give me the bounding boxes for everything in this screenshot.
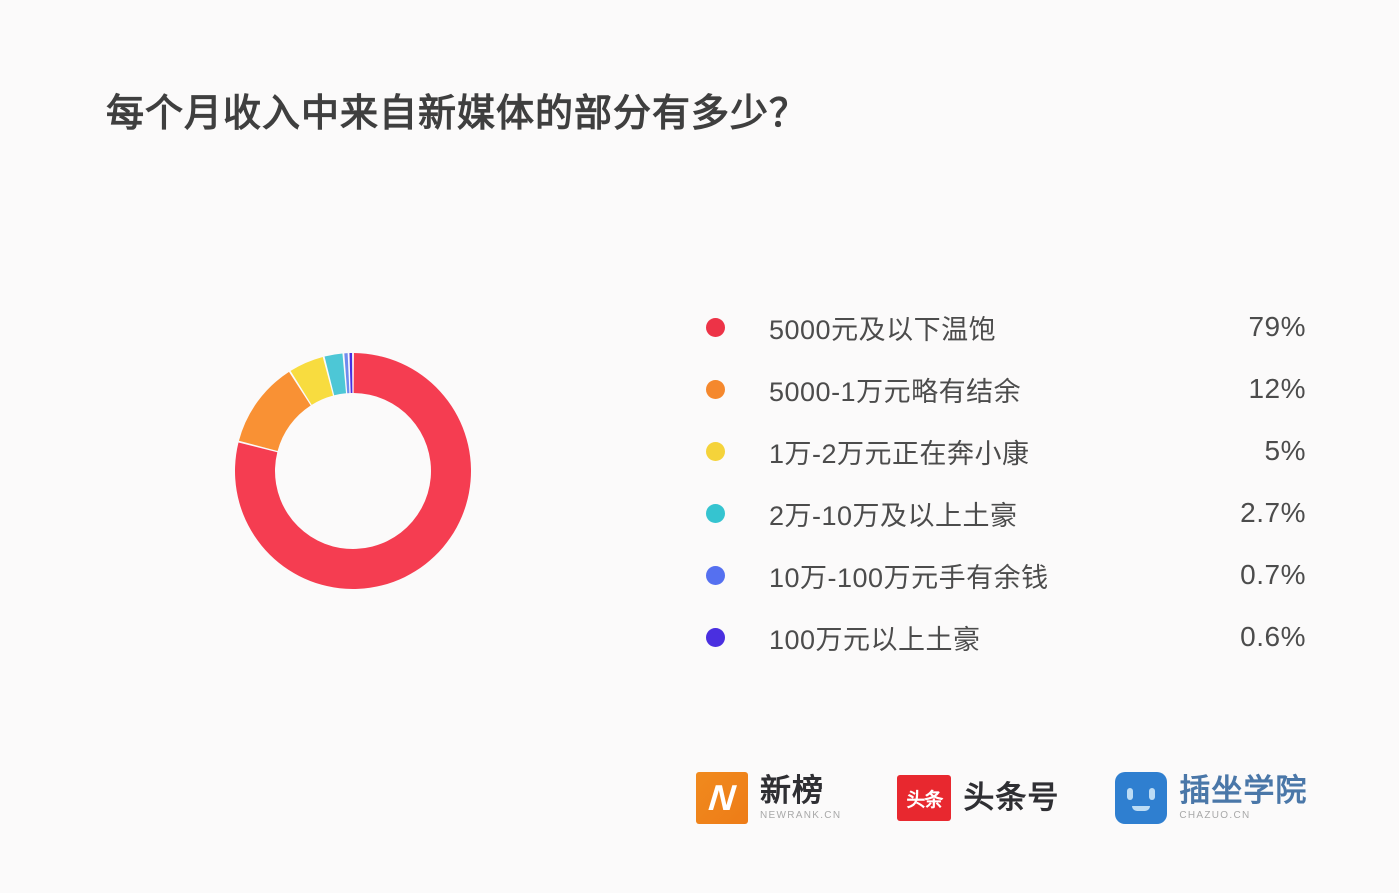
logo-newrank-name: 新榜 — [760, 775, 841, 808]
legend-color-swatch — [706, 442, 725, 461]
logo-chazuo-name: 插坐学院 — [1179, 775, 1307, 808]
legend-item[interactable]: 1万-2万元正在奔小康 5% — [706, 420, 1306, 482]
legend-color-swatch — [706, 504, 725, 523]
newrank-glyph: N — [707, 780, 737, 816]
legend-item[interactable]: 5000-1万元略有结余 12% — [706, 358, 1306, 420]
donut-slice[interactable] — [349, 353, 352, 393]
legend-item-label: 2万-10万及以上土豪 — [769, 494, 1186, 533]
logo-toutiaohao-text: 头条号 — [963, 782, 1059, 815]
logo-chazuo: 插坐学院 CHAZUO.CN — [1115, 772, 1307, 824]
chazuo-mouth-icon — [1132, 806, 1150, 811]
legend-color-swatch — [706, 318, 725, 337]
donut-chart-svg — [118, 236, 588, 706]
logo-chazuo-sub: CHAZUO.CN — [1179, 810, 1307, 821]
footer-logo-bar: N 新榜 NEWRANK.CN 头条 头条号 插坐学院 CHAZUO.CN — [696, 772, 1307, 824]
legend-item-label: 10万-100万元手有余钱 — [769, 556, 1186, 595]
legend-item-label: 5000元及以下温饱 — [769, 308, 1186, 347]
toutiao-mark-icon: 头条 — [897, 775, 951, 821]
chazuo-eye-right-icon — [1149, 788, 1155, 800]
legend-item-value: 2.7% — [1186, 497, 1306, 529]
legend-item[interactable]: 2万-10万及以上土豪 2.7% — [706, 482, 1306, 544]
logo-newrank-sub: NEWRANK.CN — [760, 810, 841, 821]
legend-color-swatch — [706, 628, 725, 647]
legend-item[interactable]: 10万-100万元手有余钱 0.7% — [706, 544, 1306, 606]
legend-item-value: 0.6% — [1186, 621, 1306, 653]
logo-chazuo-text: 插坐学院 CHAZUO.CN — [1179, 775, 1307, 821]
legend-color-swatch — [706, 566, 725, 585]
legend-item-label: 1万-2万元正在奔小康 — [769, 432, 1186, 471]
legend-item-label: 100万元以上土豪 — [769, 618, 1186, 657]
legend-item-value: 79% — [1186, 311, 1306, 343]
legend-item-label: 5000-1万元略有结余 — [769, 370, 1186, 409]
donut-chart — [118, 236, 588, 706]
page-title: 每个月收入中来自新媒体的部分有多少？ — [106, 82, 808, 137]
chart-legend: 5000元及以下温饱 79% 5000-1万元略有结余 12% 1万-2万元正在… — [706, 296, 1306, 668]
legend-item-value: 5% — [1186, 435, 1306, 467]
logo-newrank: N 新榜 NEWRANK.CN — [696, 772, 841, 824]
legend-item-value: 12% — [1186, 373, 1306, 405]
logo-newrank-text: 新榜 NEWRANK.CN — [760, 775, 841, 821]
legend-item[interactable]: 100万元以上土豪 0.6% — [706, 606, 1306, 668]
chazuo-face-icon — [1115, 772, 1167, 824]
logo-toutiaohao: 头条 头条号 — [897, 775, 1059, 821]
logo-toutiaohao-name: 头条号 — [963, 782, 1059, 815]
chazuo-eye-left-icon — [1127, 788, 1133, 800]
legend-item-value: 0.7% — [1186, 559, 1306, 591]
donut-slice-group — [235, 353, 471, 589]
legend-color-swatch — [706, 380, 725, 399]
legend-item[interactable]: 5000元及以下温饱 79% — [706, 296, 1306, 358]
newrank-mark-icon: N — [696, 772, 748, 824]
